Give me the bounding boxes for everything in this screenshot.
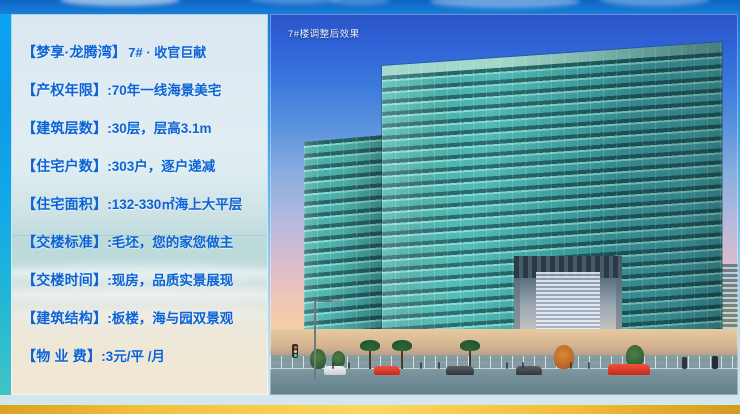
pedestrian	[522, 362, 524, 369]
info-row-units: 【住宅户数】:303户，逐户递减	[22, 147, 267, 185]
building-render-panel: 7#楼调整后效果	[270, 14, 738, 395]
pedestrian	[348, 362, 350, 369]
street-lamp-icon	[314, 300, 340, 378]
info-value: :板楼，海与园双景观	[107, 311, 233, 326]
render-caption: 7#楼调整后效果	[288, 26, 360, 40]
info-key: 【产权年限】	[22, 82, 107, 98]
cloud-icon	[600, 0, 710, 6]
pedestrian	[420, 362, 422, 369]
info-value: :303户，逐户递减	[107, 159, 215, 174]
info-value: :70年一线海景美宅	[107, 83, 221, 98]
info-list: 【梦享·龙腾湾】7# · 收官巨献 【产权年限】:70年一线海景美宅 【建筑层数…	[12, 15, 267, 394]
info-row-structure: 【建筑结构】:板楼，海与园双景观	[22, 299, 267, 337]
pedestrian	[712, 356, 718, 369]
palm-tree-icon	[466, 337, 480, 369]
cloud-icon	[250, 0, 340, 4]
info-row-area: 【住宅面积】:132-330㎡海上大平层	[22, 185, 267, 223]
property-info-panel: 【梦享·龙腾湾】7# · 收官巨献 【产权年限】:70年一线海景美宅 【建筑层数…	[11, 14, 268, 395]
info-value: :30层，层高3.1m	[107, 121, 211, 136]
bird-icon	[694, 246, 710, 252]
info-value: 7# · 收官巨献	[126, 45, 206, 60]
bottom-gold-band	[0, 405, 740, 414]
info-row-handover-standard: 【交楼标准】:毛坯，您的家您做主	[22, 223, 267, 261]
cloud-icon	[430, 0, 580, 8]
palm-tree-icon	[398, 341, 412, 369]
pedestrian	[588, 362, 590, 369]
palm-tree-icon	[366, 339, 380, 369]
cloud-icon	[330, 0, 390, 5]
info-row-property-term: 【产权年限】:70年一线海景美宅	[22, 71, 267, 109]
info-key: 【住宅面积】	[22, 196, 107, 212]
pedestrian	[506, 362, 508, 369]
info-key: 【住宅户数】	[22, 158, 107, 174]
info-key: 【建筑结构】	[22, 310, 107, 326]
info-value: :132-330㎡海上大平层	[107, 197, 242, 212]
top-sky-band	[0, 0, 740, 14]
left-accent-strip	[0, 14, 11, 395]
info-row-floors: 【建筑层数】:30层，层高3.1m	[22, 109, 267, 147]
promo-slide: 【梦享·龙腾湾】7# · 收官巨献 【产权年限】:70年一线海景美宅 【建筑层数…	[0, 0, 740, 414]
car	[374, 366, 400, 375]
info-key: 【梦享·龙腾湾】	[22, 44, 126, 60]
pedestrian	[438, 362, 440, 369]
info-value: :3元/平 /月	[101, 349, 165, 364]
info-key: 【交楼时间】	[22, 272, 107, 288]
pedestrian	[570, 362, 572, 369]
street-scene	[270, 329, 738, 395]
info-key: 【建筑层数】	[22, 120, 107, 136]
info-key: 【交楼标准】	[22, 234, 107, 250]
info-row-handover-time: 【交楼时间】:现房，品质实景展现	[22, 261, 267, 299]
info-value: :现房，品质实景展现	[107, 273, 233, 288]
info-row-title: 【梦享·龙腾湾】7# · 收官巨献	[22, 33, 267, 71]
traffic-light-icon	[292, 344, 298, 358]
pedestrian	[682, 357, 687, 369]
car	[608, 364, 650, 375]
car	[446, 366, 474, 375]
info-key: 【物 业 费】	[22, 348, 101, 364]
car	[516, 366, 542, 375]
info-row-property-fee: 【物 业 费】:3元/平 /月	[22, 337, 267, 375]
info-value: :毛坯，您的家您做主	[107, 235, 233, 250]
cloud-icon	[60, 0, 180, 6]
